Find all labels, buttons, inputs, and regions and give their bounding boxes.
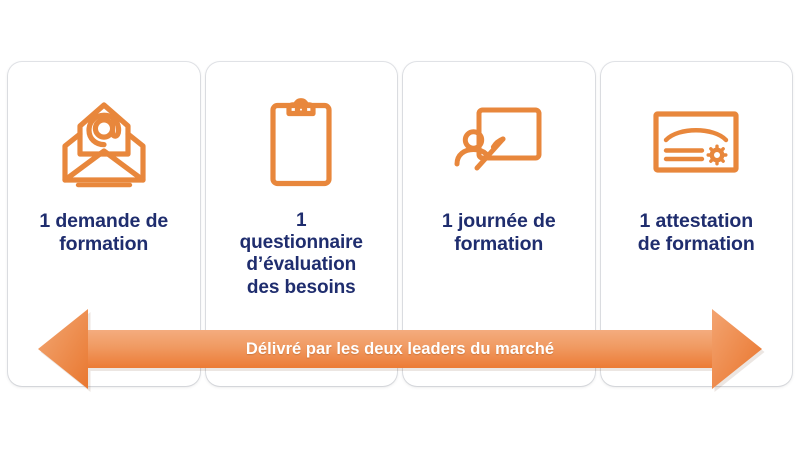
open-envelope-email-icon	[48, 88, 160, 196]
teacher-whiteboard-icon	[443, 88, 555, 196]
banner-text-container: Délivré par les deux leaders du marché	[0, 303, 800, 395]
process-infographic: 1 demande de formation 1 questionnaire d…	[0, 0, 800, 450]
clipboard-icon	[245, 88, 357, 196]
step-label-journee: 1 journée de formation	[436, 210, 562, 256]
step-label-demande: 1 demande de formation	[33, 210, 174, 256]
certificate-icon	[640, 88, 752, 196]
banner-text: Délivré par les deux leaders du marché	[246, 340, 554, 359]
step-label-questionnaire: 1 questionnaire d’évaluation des besoins	[234, 210, 369, 299]
step-label-attestation: 1 attestation de formation	[632, 210, 761, 256]
